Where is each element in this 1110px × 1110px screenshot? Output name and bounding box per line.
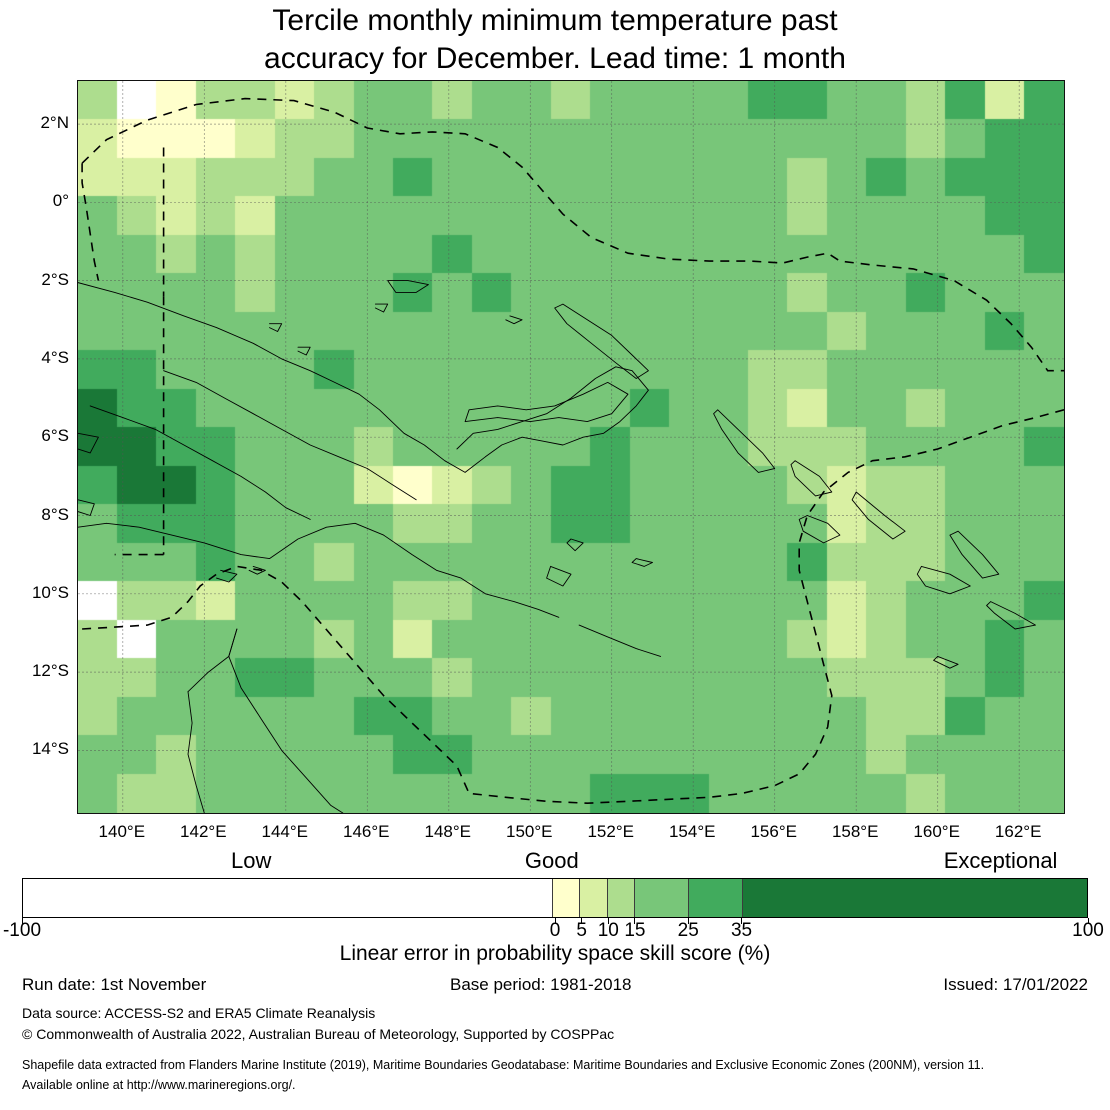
page-title: Tercile monthly minimum temperature past… bbox=[0, 2, 1110, 78]
longitude-tick-144°E: 144°E bbox=[245, 822, 325, 842]
latitude-tick-0°: 0° bbox=[3, 191, 69, 211]
latitude-tick-2°N: 2°N bbox=[3, 113, 69, 133]
map-plot-area bbox=[77, 80, 1065, 814]
longitude-tick-150°E: 150°E bbox=[489, 822, 569, 842]
longitude-tick-152°E: 152°E bbox=[571, 822, 651, 842]
colorbar-segment-10-to-15 bbox=[608, 879, 635, 917]
data-source: Data source: ACCESS-S2 and ERA5 Climate … bbox=[22, 1005, 375, 1021]
coastline-and-eez-overlay bbox=[78, 81, 1064, 813]
colorbar-category-low: Low bbox=[101, 848, 401, 874]
colorbar-tick--100: -100 bbox=[0, 920, 72, 942]
colorbar-segment--100-to-0 bbox=[23, 879, 553, 917]
latitude-tick-4°S: 4°S bbox=[3, 348, 69, 368]
longitude-tick-146°E: 146°E bbox=[326, 822, 406, 842]
run-date: Run date: 1st November bbox=[22, 975, 206, 995]
copyright-notice: © Commonwealth of Australia 2022, Austra… bbox=[22, 1026, 614, 1042]
longitude-tick-160°E: 160°E bbox=[897, 822, 977, 842]
shapefile-attribution-line-2: Available online at http://www.marinereg… bbox=[22, 1078, 296, 1092]
latitude-tick-2°S: 2°S bbox=[3, 270, 69, 290]
latitude-tick-6°S: 6°S bbox=[3, 426, 69, 446]
colorbar-title: Linear error in probability space skill … bbox=[0, 942, 1110, 966]
latitude-tick-14°S: 14°S bbox=[3, 739, 69, 759]
colorbar-tickmark bbox=[741, 918, 742, 924]
colorbar-segment-5-to-10 bbox=[580, 879, 607, 917]
latitude-tick-12°S: 12°S bbox=[3, 661, 69, 681]
colorbar-category-exceptional: Exceptional bbox=[851, 848, 1110, 874]
colorbar-tickmark bbox=[634, 918, 635, 924]
latitude-tick-10°S: 10°S bbox=[3, 583, 69, 603]
colorbar-tickmark bbox=[22, 918, 23, 924]
colorbar-tick-100: 100 bbox=[1038, 920, 1110, 942]
title-line-1: Tercile monthly minimum temperature past bbox=[0, 2, 1110, 40]
longitude-tick-140°E: 140°E bbox=[82, 822, 162, 842]
longitude-tick-156°E: 156°E bbox=[734, 822, 814, 842]
longitude-tick-154°E: 154°E bbox=[652, 822, 732, 842]
title-line-2: accuracy for December. Lead time: 1 mont… bbox=[0, 40, 1110, 78]
latitude-tick-8°S: 8°S bbox=[3, 505, 69, 525]
colorbar-tickmark bbox=[688, 918, 689, 924]
longitude-tick-158°E: 158°E bbox=[815, 822, 895, 842]
colorbar-segment-0-to-5 bbox=[553, 879, 580, 917]
colorbar-tickmark bbox=[1088, 918, 1089, 924]
footer: Run date: 1st November Base period: 1981… bbox=[0, 975, 1110, 1098]
colorbar-segment-35-to-100 bbox=[743, 879, 1087, 917]
colorbar-category-good: Good bbox=[402, 848, 702, 874]
longitude-tick-142°E: 142°E bbox=[163, 822, 243, 842]
colorbar bbox=[22, 878, 1088, 918]
longitude-tick-148°E: 148°E bbox=[408, 822, 488, 842]
base-period: Base period: 1981-2018 bbox=[450, 975, 631, 995]
issued-date: Issued: 17/01/2022 bbox=[943, 975, 1088, 995]
shapefile-attribution-line-1: Shapefile data extracted from Flanders M… bbox=[22, 1058, 984, 1072]
colorbar-gradient bbox=[22, 878, 1088, 918]
colorbar-segment-15-to-25 bbox=[635, 879, 689, 917]
longitude-tick-162°E: 162°E bbox=[978, 822, 1058, 842]
colorbar-segment-25-to-35 bbox=[689, 879, 743, 917]
